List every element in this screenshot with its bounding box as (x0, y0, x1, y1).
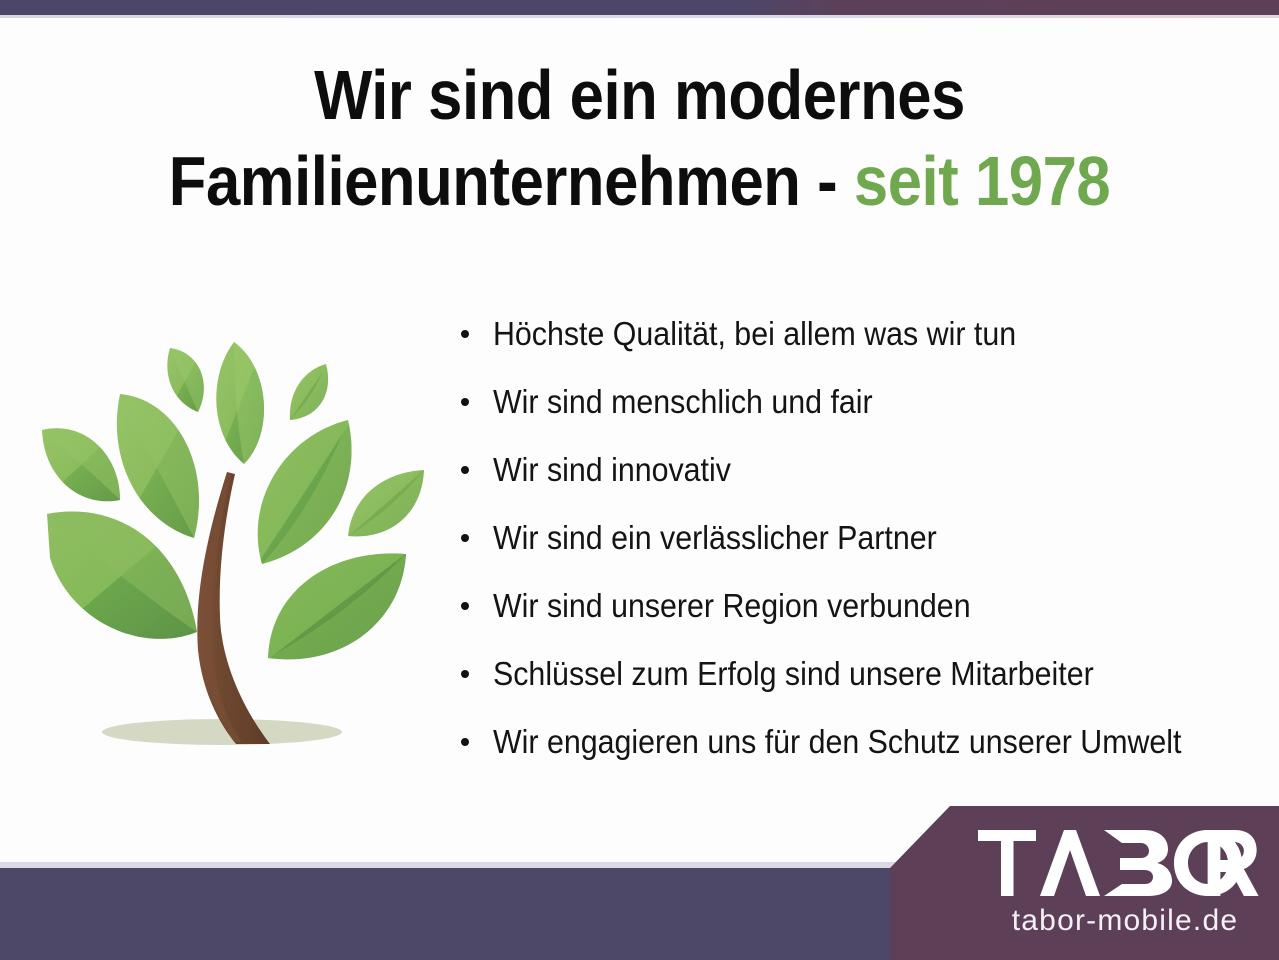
list-item: Höchste Qualität, bei allem was wir tun (455, 300, 1270, 368)
bullet-dot-icon (461, 466, 469, 474)
list-item: Schlüssel zum Erfolg sind unsere Mitarbe… (455, 640, 1270, 708)
page-title: Wir sind ein modernes Familienunternehme… (0, 52, 1279, 224)
list-item-label: Wir sind innovativ (493, 450, 731, 490)
list-item: Wir sind ein verlässlicher Partner (455, 504, 1270, 572)
bullet-dot-icon (461, 670, 469, 678)
slide-canvas: Wir sind ein modernes Familienunternehme… (0, 0, 1279, 960)
list-item-label: Wir sind menschlich und fair (493, 382, 873, 422)
title-line-2-accent: seit 1978 (854, 142, 1110, 220)
list-item: Wir sind innovativ (455, 436, 1270, 504)
list-item-label: Wir sind unserer Region verbunden (493, 586, 971, 626)
bullet-dot-icon (461, 602, 469, 610)
list-item: Wir engagieren uns für den Schutz unsere… (455, 708, 1270, 776)
bullet-dot-icon (461, 738, 469, 746)
list-item-label: Wir sind ein verlässlicher Partner (493, 518, 937, 558)
top-accent-bar-underline (0, 15, 1279, 18)
title-line-2: Familienunternehmen - seit 1978 (77, 138, 1203, 224)
tabor-wordmark-icon (978, 830, 1268, 896)
value-bullet-list: Höchste Qualität, bei allem was wir tun … (455, 300, 1270, 776)
list-item-label: Schlüssel zum Erfolg sind unsere Mitarbe… (493, 654, 1094, 694)
title-line-2-main: Familienunternehmen - (169, 142, 854, 220)
list-item-label: Wir engagieren uns für den Schutz unsere… (493, 722, 1181, 762)
brand-logo: tabor-mobile.de (890, 806, 1279, 960)
list-item: Wir sind menschlich und fair (455, 368, 1270, 436)
tree-illustration (22, 332, 440, 760)
brand-url: tabor-mobile.de (982, 904, 1268, 938)
list-item-label: Höchste Qualität, bei allem was wir tun (493, 314, 1016, 354)
title-line-1: Wir sind ein modernes (77, 52, 1203, 138)
bullet-dot-icon (461, 330, 469, 338)
list-item: Wir sind unserer Region verbunden (455, 572, 1270, 640)
top-accent-bar (0, 0, 1279, 15)
bullet-dot-icon (461, 534, 469, 542)
bullet-dot-icon (461, 398, 469, 406)
